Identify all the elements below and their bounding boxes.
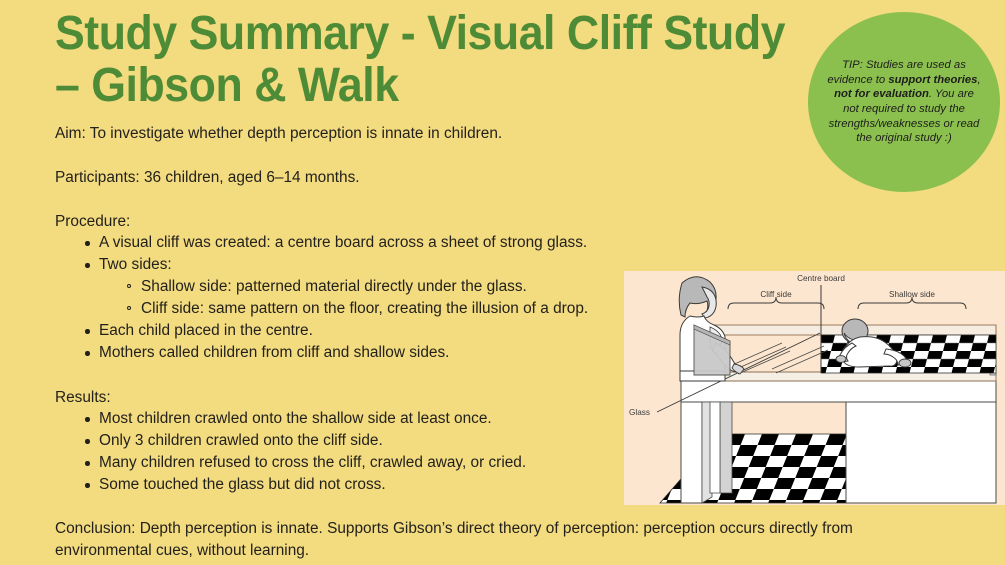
list-item: Each child placed in the centre. [85,320,665,342]
aim-line: Aim: To investigate whether depth percep… [55,123,615,145]
procedure-list: A visual cliff was created: a centre boa… [55,232,665,364]
tip-bold-1: support theories [888,74,977,86]
list-item-text: Some touched the glass but did not cross… [99,476,386,493]
list-item: Mothers called children from cliff and s… [85,342,665,364]
list-item-text: Most children crawled onto the shallow s… [99,410,492,427]
list-item: Two sides: Shallow side: patterned mater… [85,254,665,320]
tip-callout-text: TIP: Studies are used as evidence to sup… [826,58,982,146]
list-item: Most children crawled onto the shallow s… [85,408,665,430]
list-item: Only 3 children crawled onto the cliff s… [85,430,665,452]
participants-line: Participants: 36 children, aged 6–14 mon… [55,167,615,189]
list-item: A visual cliff was created: a centre boa… [85,232,665,254]
list-item-text: Only 3 children crawled onto the cliff s… [99,432,383,449]
slide-canvas: Study Summary - Visual Cliff Study – Gib… [0,0,1005,565]
list-item-text: Shallow side: patterned material directl… [141,278,527,295]
list-item: Cliff side: same pattern on the floor, c… [127,298,665,320]
results-list: Most children crawled onto the shallow s… [55,408,665,496]
tip-callout-circle: TIP: Studies are used as evidence to sup… [808,12,1000,192]
procedure-heading: Procedure: [55,211,615,233]
list-item: Many children refused to cross the cliff… [85,452,665,474]
tip-sep-2: . [929,88,932,100]
tip-bold-2: not for evaluation [834,88,929,100]
list-item-text: A visual cliff was created: a centre boa… [99,234,587,251]
shallow-side-label: Shallow side [889,290,935,299]
page-title: Study Summary - Visual Cliff Study – Gib… [55,8,790,112]
list-item-text: Many children refused to cross the cliff… [99,454,526,471]
list-item: Shallow side: patterned material directl… [127,276,665,298]
list-item: Some touched the glass but did not cross… [85,474,665,496]
cliff-side-label: Cliff side [760,290,792,299]
centre-board-label: Centre board [797,274,845,283]
results-heading: Results: [55,387,615,409]
visual-cliff-diagram: Cliff side Shallow side Centre board Gla… [624,271,1005,505]
list-item-text: Mothers called children from cliff and s… [99,344,449,361]
list-item-text: Two sides: [99,256,172,273]
glass-label: Glass [629,408,650,417]
procedure-sublist: Shallow side: patterned material directl… [99,276,665,320]
list-item-text: Each child placed in the centre. [99,322,313,339]
conclusion-line: Conclusion: Depth perception is innate. … [55,518,935,562]
tip-sep-1: , [977,74,980,86]
list-item-text: Cliff side: same pattern on the floor, c… [141,300,588,317]
